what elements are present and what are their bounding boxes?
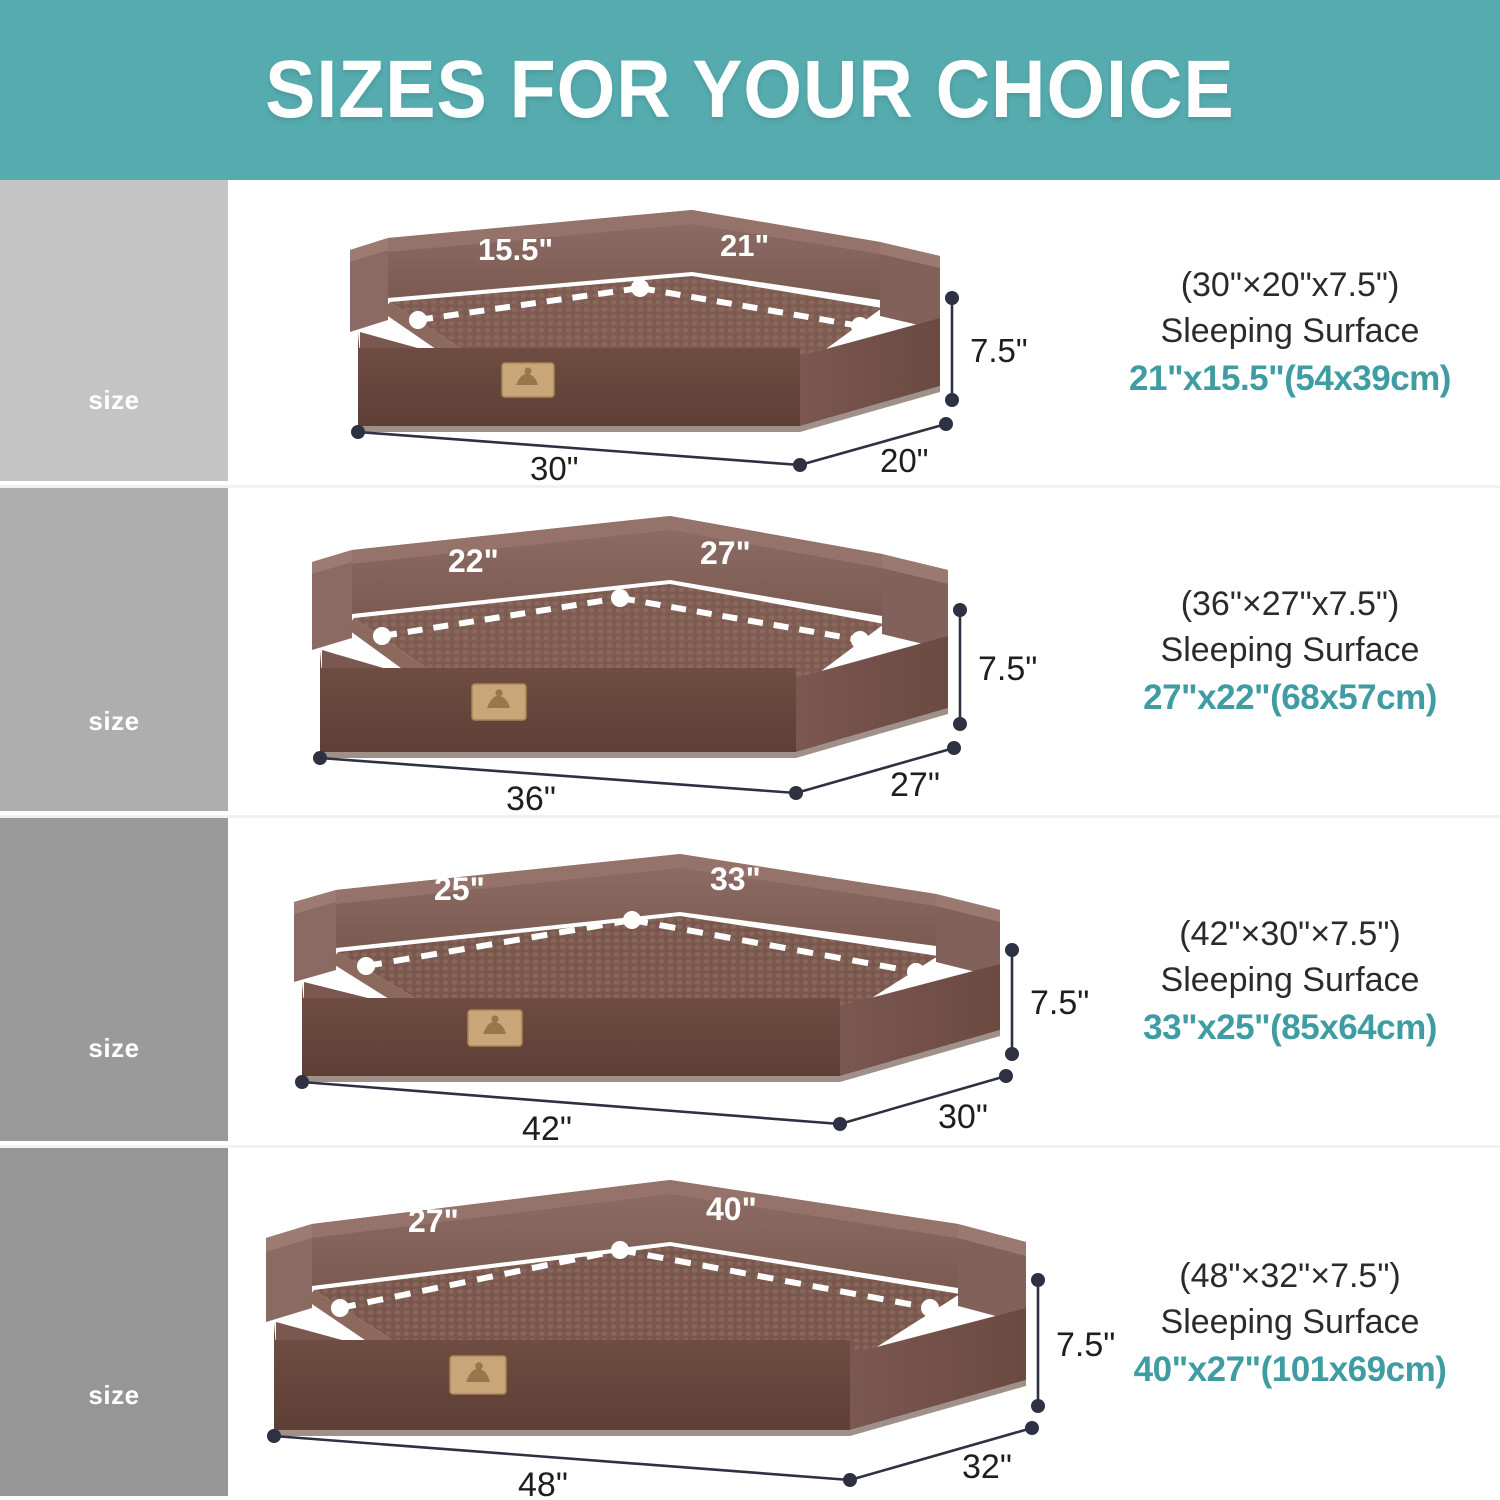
- side-dim-label: 32": [962, 1448, 1012, 1486]
- size-info-cell: (42"×30"×7.5") Sleeping Surface 33"x25"(…: [1080, 818, 1500, 1145]
- front-dim-label: 36": [506, 780, 556, 818]
- size-swatch-cell: [0, 488, 228, 815]
- sleeping-surface-value: 33"x25"(85x64cm): [1143, 1004, 1437, 1051]
- bed-illustration-cell: 27" 40" 48" 32" 7.5": [150, 1148, 1150, 1500]
- brand-patch-icon: [450, 1356, 506, 1394]
- size-info-cell: (30"×20"x7.5") Sleeping Surface 21"x15.5…: [1080, 180, 1500, 485]
- sleeping-surface-label: Sleeping Surface: [1161, 628, 1420, 674]
- size-row: size: [0, 1148, 1500, 1500]
- height-dim-label: 7.5": [978, 650, 1037, 688]
- front-dim-label: 48": [518, 1466, 568, 1500]
- size-row: size: [0, 180, 1500, 488]
- dog-bed-illustration-1: 15.5" 21" 30" 20" 7.5": [240, 180, 1100, 488]
- size-rows-container: size: [0, 180, 1500, 1500]
- top-right-dim-label: 33": [710, 861, 761, 897]
- size-info-cell: (48"×32"×7.5") Sleeping Surface 40"x27"(…: [1080, 1148, 1500, 1500]
- dog-bed-illustration-4: 27" 40" 48" 32" 7.5": [150, 1148, 1150, 1500]
- bed-illustration-cell: 25" 33" 42" 30" 7.5": [180, 818, 1140, 1145]
- size-row: size: [0, 488, 1500, 818]
- bed-illustration-cell: 22" 27" 36" 27" 7.5": [200, 488, 1120, 815]
- size-cell-label: size: [0, 385, 228, 416]
- size-row: size: [0, 818, 1500, 1148]
- sleeping-surface-value: 21"x15.5"(54x39cm): [1129, 355, 1451, 402]
- brand-patch-icon: [468, 1010, 522, 1046]
- sleeping-surface-label: Sleeping Surface: [1161, 958, 1420, 1004]
- size-swatch-cell: [0, 180, 228, 485]
- top-right-dim-label: 27": [700, 535, 751, 571]
- sleeping-surface-value: 27"x22"(68x57cm): [1143, 674, 1437, 721]
- overall-dimensions: (42"×30"×7.5"): [1179, 912, 1400, 958]
- top-left-dim-label: 27": [408, 1203, 459, 1239]
- dog-bed-illustration-2: 22" 27" 36" 27" 7.5": [200, 488, 1120, 818]
- height-dim-label: 7.5": [970, 332, 1028, 369]
- size-cell-label: size: [0, 706, 228, 737]
- side-dim-label: 27": [890, 766, 940, 804]
- overall-dimensions: (30"×20"x7.5"): [1181, 263, 1400, 309]
- dog-bed-illustration-3: 25" 33" 42" 30" 7.5": [180, 818, 1140, 1148]
- sleeping-surface-label: Sleeping Surface: [1161, 309, 1420, 355]
- side-dim-label: 30": [938, 1098, 988, 1136]
- front-dim-label: 42": [522, 1110, 572, 1148]
- brand-patch-icon: [502, 363, 554, 397]
- brand-patch-icon: [472, 684, 526, 720]
- sleeping-surface-value: 40"x27"(101x69cm): [1134, 1346, 1447, 1393]
- top-right-dim-label: 21": [720, 228, 769, 263]
- side-dim-label: 20": [880, 442, 928, 479]
- page-header: SIZES FOR YOUR CHOICE: [0, 0, 1500, 180]
- size-info-cell: (36"×27"x7.5") Sleeping Surface 27"x22"(…: [1080, 488, 1500, 815]
- top-left-dim-label: 15.5": [478, 232, 553, 267]
- sleeping-surface-label: Sleeping Surface: [1161, 1300, 1420, 1346]
- top-right-dim-label: 40": [706, 1191, 757, 1227]
- page-title: SIZES FOR YOUR CHOICE: [265, 43, 1234, 137]
- overall-dimensions: (36"×27"x7.5"): [1181, 582, 1400, 628]
- overall-dimensions: (48"×32"×7.5"): [1179, 1254, 1400, 1300]
- top-left-dim-label: 25": [434, 871, 485, 907]
- top-left-dim-label: 22": [448, 543, 499, 579]
- bed-illustration-cell: 15.5" 21" 30" 20" 7.5": [240, 180, 1100, 485]
- front-dim-label: 30": [530, 450, 578, 487]
